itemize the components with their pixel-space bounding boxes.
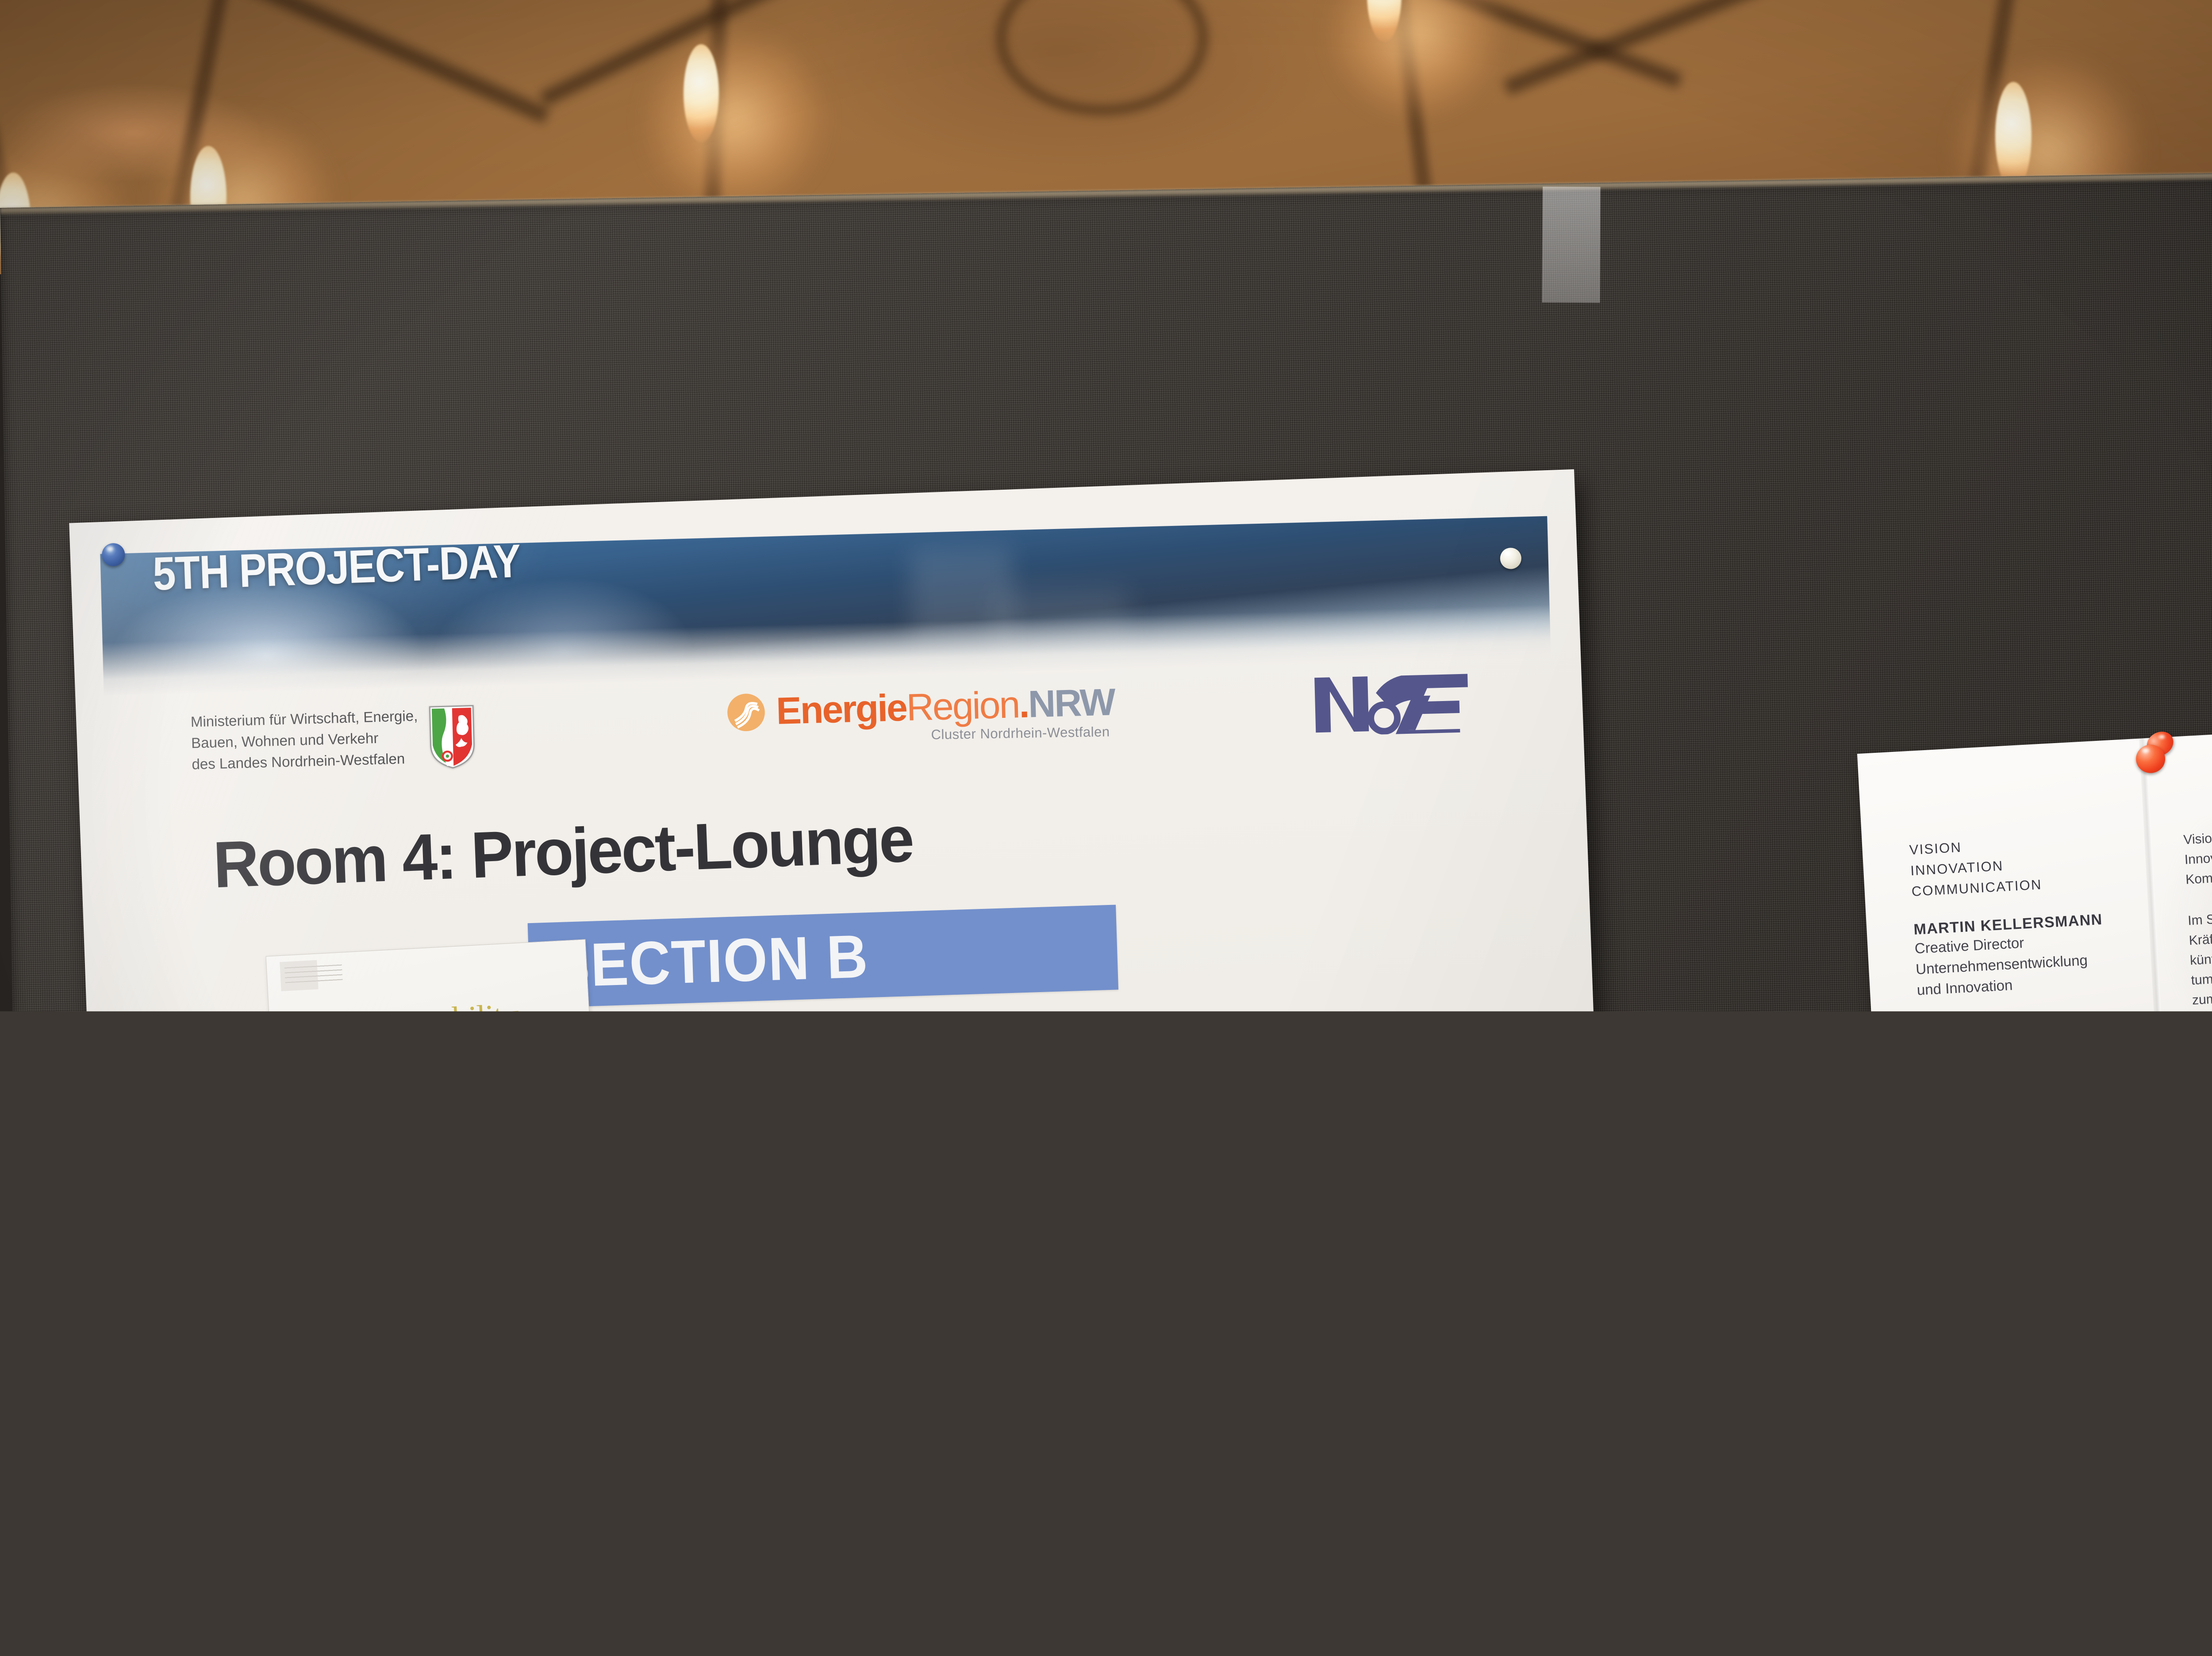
card-left-panel: VISION INNOVATION COMMUNICATION MARTIN K… (1909, 827, 2155, 1120)
swirl-mark-icon (725, 691, 767, 733)
ceiling-light (1995, 82, 2032, 190)
energieregion-subtitle: Cluster Nordrhein-Westfalen (931, 724, 1110, 743)
ministry-logo: Ministerium für Wirtschaft, Energie, Bau… (190, 704, 476, 777)
folded-business-card[interactable]: VISION INNOVATION COMMUNICATION MARTIN K… (1857, 723, 2212, 1120)
book-title-part2: mobility (410, 997, 519, 1040)
region-word: Region (906, 683, 1019, 730)
status-badge: SECTION B (528, 905, 1118, 1008)
book-sketch-diagram (292, 1097, 467, 1247)
noae-logo (1310, 670, 1479, 736)
card-address: Moerser Str. 14a D-40670 Meerbusch (1918, 1006, 2150, 1060)
designing-mobility-book-cover: designingmobility eine Initiative des (265, 939, 610, 1416)
conference-poster[interactable]: 5TH PROJECT-DAY Ministerium für Wirtscha… (69, 469, 1613, 1597)
adhesive-tape-strip (1542, 187, 1600, 303)
ceiling-ring-ornament (995, 0, 1209, 116)
energie-word: Energie (776, 686, 907, 733)
nrw-coat-of-arms-icon (428, 704, 477, 770)
pin-board: 5TH PROJECT-DAY Ministerium für Wirtscha… (0, 169, 2212, 1656)
ministry-logo-text: Ministerium für Wirtschaft, Energie, Bau… (190, 705, 419, 775)
card-tagline: VISION INNOVATION COMMUNICATION (1909, 827, 2142, 902)
ceiling-light (684, 44, 719, 142)
photo-scene: 5TH PROJECT-DAY Ministerium für Wirtscha… (0, 0, 2212, 1656)
energie-dot: . (1018, 682, 1029, 727)
nrw-word: NRW (1028, 680, 1115, 726)
book-initiative-text: eine Initiative des (430, 1037, 513, 1054)
section-badge-label: SECTION B (551, 921, 869, 1001)
card-person-role: Creative Director Unternehmensentwicklun… (1914, 926, 2147, 1000)
page-title: Room 4: Project-Lounge (212, 801, 914, 903)
